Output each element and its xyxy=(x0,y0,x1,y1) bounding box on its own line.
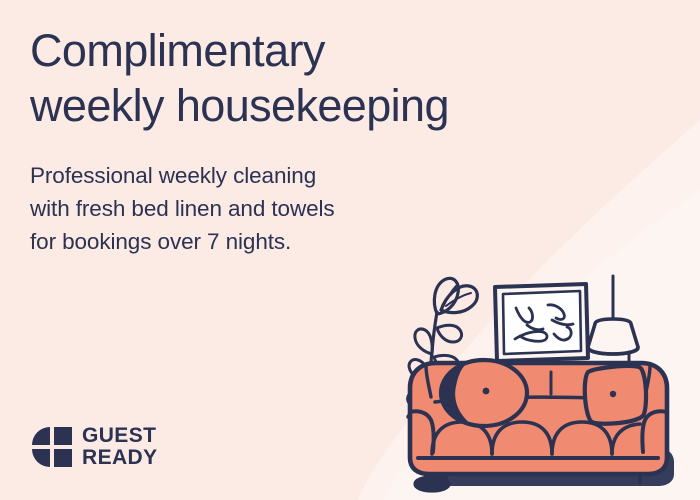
framed-artwork-icon xyxy=(495,284,588,361)
brand-wordmark: GUEST READY xyxy=(82,425,158,469)
round-cushion-icon xyxy=(441,360,527,426)
brand-logo: GUEST READY xyxy=(31,425,158,469)
mark-quadrant-top-left xyxy=(32,427,50,445)
guestready-mark-icon xyxy=(31,426,73,468)
headline: Complimentary weekly housekeeping xyxy=(30,24,630,134)
sofa-icon xyxy=(410,360,674,486)
subcopy: Professional weekly cleaning with fresh … xyxy=(30,160,460,259)
promo-banner: Complimentary weekly housekeeping Profes… xyxy=(0,0,700,500)
square-pillow-icon xyxy=(585,366,646,424)
mark-quadrant-bottom-left xyxy=(32,449,50,467)
mark-quadrant-bottom-right xyxy=(54,449,72,467)
living-room-illustration xyxy=(396,262,696,500)
